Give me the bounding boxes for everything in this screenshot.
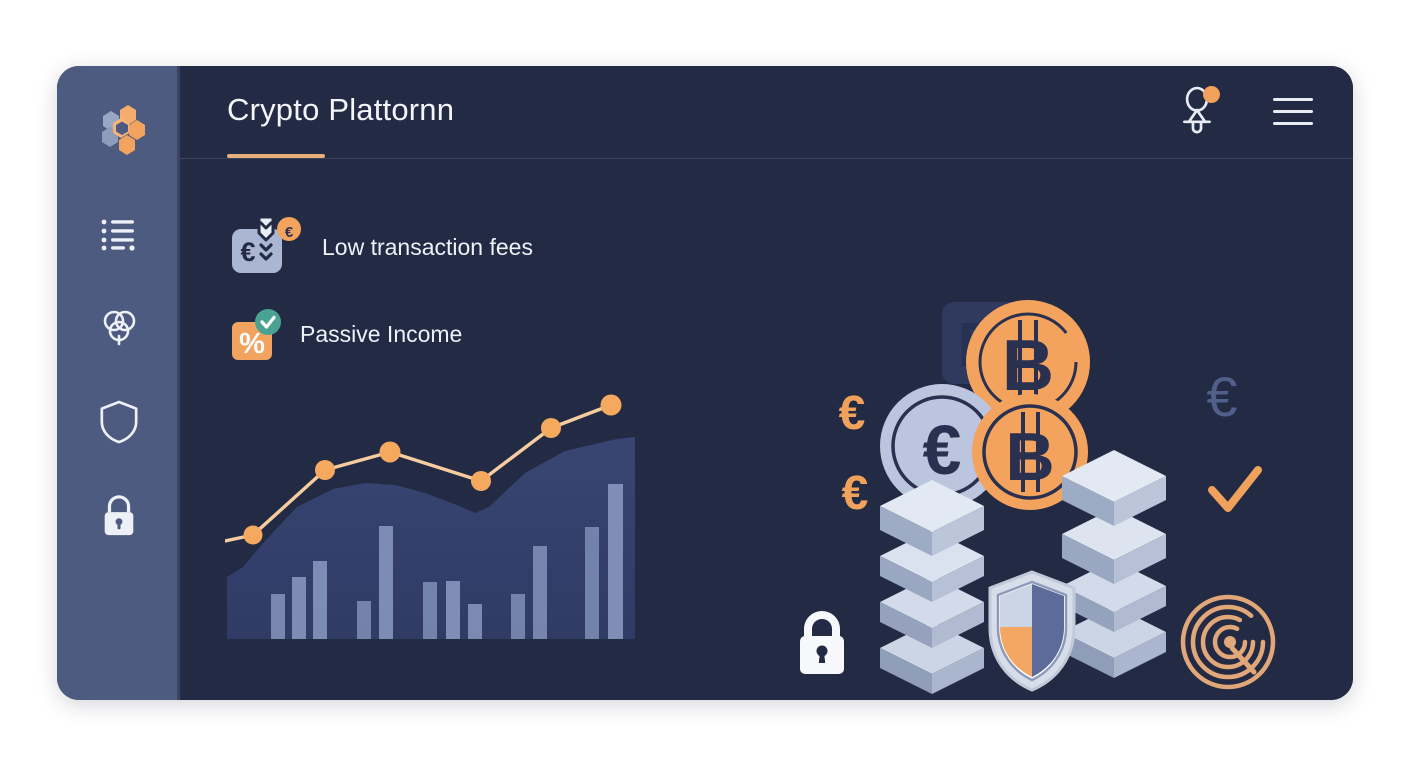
notification-badge: [1203, 86, 1220, 103]
hexagon-logo[interactable]: [89, 100, 149, 160]
svg-text:B: B: [1005, 419, 1054, 495]
main-area: Crypto Plattornn: [180, 66, 1353, 700]
chart-point: [315, 460, 335, 480]
feature-label: Low transaction fees: [322, 234, 533, 261]
lock-icon: [98, 493, 140, 539]
network-node-icon: [97, 306, 141, 350]
chart-bar: [533, 546, 547, 639]
chart-bar: [446, 581, 460, 639]
list-icon: [99, 214, 139, 254]
chart-bar: [292, 577, 306, 639]
analytics-chart[interactable]: [225, 389, 645, 664]
page-title: Crypto Plattornn: [227, 92, 454, 128]
chart-bar: [313, 561, 327, 639]
chart-bar: [271, 594, 285, 639]
fingerprint-icon: [1183, 597, 1273, 687]
svg-text:€: €: [285, 224, 294, 241]
content-area: € € Low transaction fees: [180, 159, 1353, 700]
app-header: Crypto Plattornn: [180, 66, 1353, 159]
chart-point: [601, 395, 622, 416]
feature-item-low-fees[interactable]: € € Low transaction fees: [230, 217, 533, 277]
chart-bar: [511, 594, 525, 639]
chart-bar: [468, 604, 482, 639]
check-mark: [1212, 470, 1258, 508]
crypto-illustration: B B € € € B: [780, 294, 1320, 694]
euro-symbol-bottom: €: [842, 467, 869, 520]
euro-symbol-top: €: [839, 387, 866, 440]
blockchain-stack-left: [880, 480, 984, 694]
chart-bar: [379, 526, 393, 639]
lock-icon: [800, 615, 844, 674]
percent-icon: %: [230, 304, 282, 364]
blockchain-stack-right: [1062, 450, 1166, 678]
chart-point: [244, 526, 263, 545]
sidebar-item-security[interactable]: [91, 394, 147, 450]
app-window: Crypto Plattornn: [57, 66, 1353, 700]
sidebar-item-list[interactable]: [91, 206, 147, 262]
sidebar-item-network[interactable]: [91, 300, 147, 356]
shield-icon: [98, 399, 140, 445]
chart-bar: [608, 484, 623, 639]
chart-bar: [357, 601, 371, 639]
sidebar: [57, 66, 180, 700]
chart-point: [471, 471, 491, 491]
svg-text:B: B: [1002, 326, 1054, 406]
chart-point: [380, 442, 401, 463]
feature-item-passive-income[interactable]: % Passive Income: [230, 304, 462, 364]
user-account-button[interactable]: [1175, 84, 1219, 138]
chart-point: [541, 418, 561, 438]
hamburger-menu-button[interactable]: [1271, 91, 1315, 131]
hamburger-menu-icon: [1273, 98, 1313, 101]
chart-bar: [585, 527, 599, 639]
feature-label: Passive Income: [300, 321, 462, 348]
chart-bar: [423, 582, 437, 639]
svg-text:€: €: [240, 237, 255, 267]
svg-text:€: €: [923, 411, 962, 489]
shield-icon: [990, 572, 1074, 690]
sidebar-item-privacy[interactable]: [91, 488, 147, 544]
euro-symbol-faded: €: [1206, 365, 1237, 428]
euro-card-icon: € €: [230, 217, 304, 277]
header-actions: [1175, 84, 1315, 138]
screenshot-root: Crypto Plattornn: [0, 0, 1408, 768]
